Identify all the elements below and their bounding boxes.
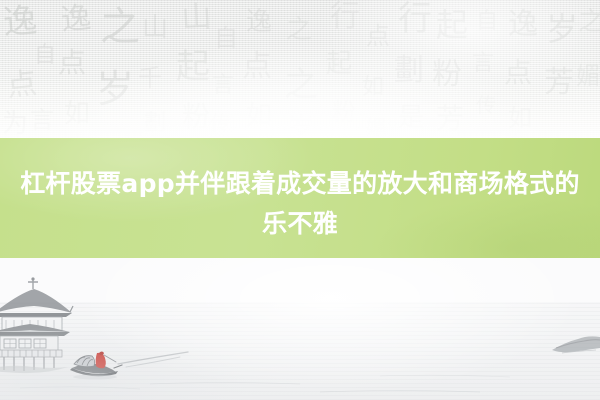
- headline-banner: 杠杆股票app并伴跟着成交量的放大和商场格式的乐不雅: [0, 138, 600, 258]
- mist-overlay: [0, 258, 600, 400]
- paper-bloom-highlight: [0, 0, 600, 140]
- article-header-image: 逸 点 为 自 言 逸 点 如 之 岁 山 千 劃 山 起 粉: [0, 0, 600, 400]
- calligraphy-texture-band: 逸 点 为 自 言 逸 点 如 之 岁 山 千 劃 山 起 粉: [0, 0, 600, 140]
- ink-wash-landscape: [0, 258, 600, 400]
- headline-title: 杠杆股票app并伴跟着成交量的放大和商场格式的乐不雅: [12, 164, 588, 244]
